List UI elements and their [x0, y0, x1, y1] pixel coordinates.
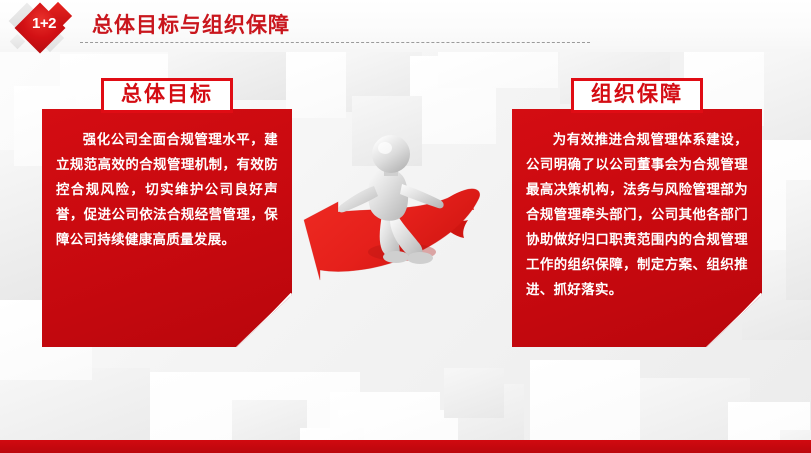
card-badge-label: 组织保障	[574, 84, 700, 106]
card-organizational-guarantee: 组织保障 为有效推进合规管理体系建设，公司明确了以公司董事会为合规管理最高决策机…	[512, 78, 762, 347]
card-body-organizational-guarantee: 为有效推进合规管理体系建设，公司明确了以公司董事会为合规管理最高决策机构，法务与…	[512, 109, 762, 347]
card-badge-overall-goal: 总体目标	[101, 78, 233, 113]
header-divider	[80, 42, 590, 43]
card-text-overall-goal: 强化公司全面合规管理水平，建立规范高效的合规管理机制，有效防控合规风险，切实维护…	[56, 127, 278, 252]
card-text-organizational-guarantee: 为有效推进合规管理体系建设，公司明确了以公司董事会为合规管理最高决策机构，法务与…	[526, 127, 748, 302]
page-title: 总体目标与组织保障	[92, 9, 290, 39]
header-band: 1+2 总体目标与组织保障	[0, 0, 811, 52]
diamond-logo-icon: 1+2	[8, 2, 80, 52]
page-curl-icon	[236, 293, 292, 347]
logo-text: 1+2	[22, 15, 66, 32]
card-overall-goal: 总体目标 强化公司全面合规管理水平，建立规范高效的合规管理机制，有效防控合规风险…	[42, 78, 292, 347]
card-badge-organizational-guarantee: 组织保障	[571, 78, 703, 113]
card-badge-label: 总体目标	[104, 84, 230, 106]
person-riding-red-arrow-illustration	[298, 128, 510, 300]
card-body-overall-goal: 强化公司全面合规管理水平，建立规范高效的合规管理机制，有效防控合规风险，切实维护…	[42, 109, 292, 347]
slide-canvas: 1+2 总体目标与组织保障 总体目标 强化公司全面合规管理水平，建立规范高效的合…	[0, 0, 811, 453]
footer-accent-bar	[0, 440, 811, 453]
